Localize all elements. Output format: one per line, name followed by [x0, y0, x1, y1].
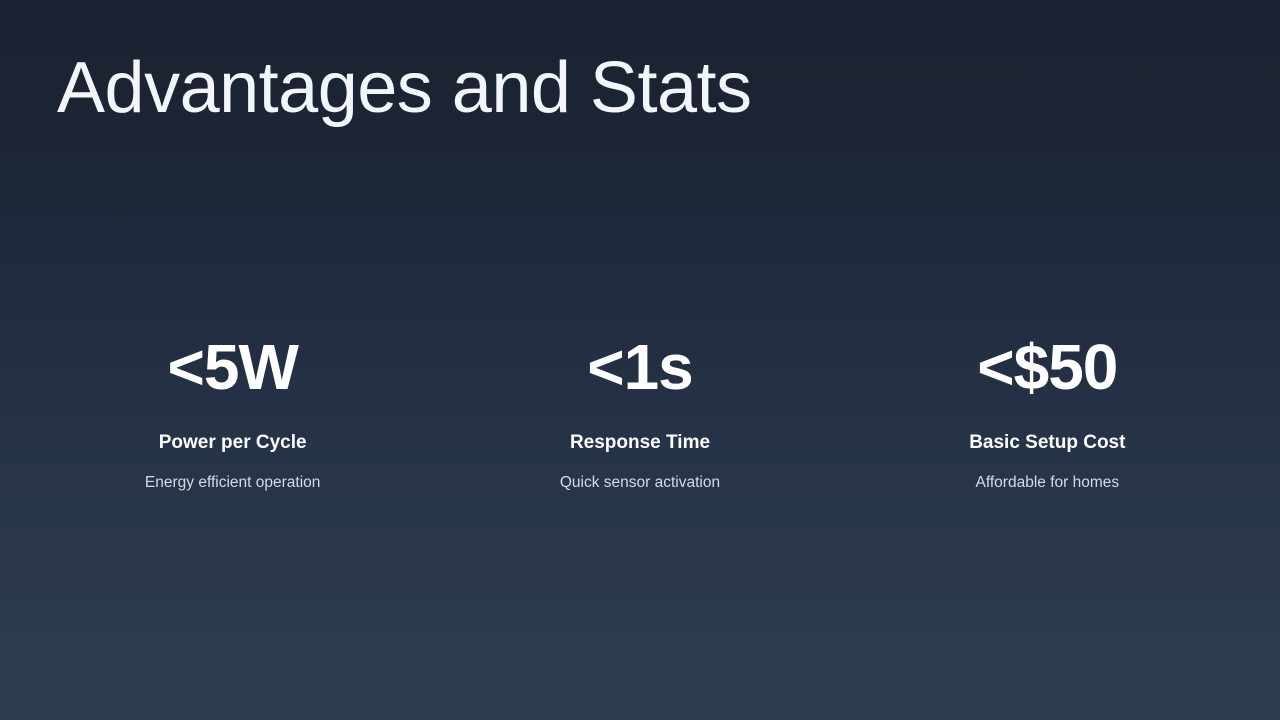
stat-value: <5W [167, 330, 297, 406]
stat-label: Response Time [570, 432, 710, 455]
stat-value: <$50 [977, 330, 1117, 406]
stat-card-response: <1s Response Time Quick sensor activatio… [436, 330, 843, 493]
stat-description: Energy efficient operation [145, 474, 321, 493]
stat-card-power: <5W Power per Cycle Energy efficient ope… [29, 330, 436, 493]
stat-card-cost: <$50 Basic Setup Cost Affordable for hom… [844, 330, 1251, 493]
stats-row: <5W Power per Cycle Energy efficient ope… [0, 330, 1280, 493]
presentation-slide: Advantages and Stats <5W Power per Cycle… [0, 0, 1280, 720]
stat-description: Quick sensor activation [560, 474, 720, 493]
stat-description: Affordable for homes [976, 474, 1120, 493]
stat-label: Power per Cycle [159, 432, 307, 455]
stat-value: <1s [587, 330, 693, 406]
page-title: Advantages and Stats [57, 52, 752, 124]
stat-label: Basic Setup Cost [969, 432, 1125, 455]
